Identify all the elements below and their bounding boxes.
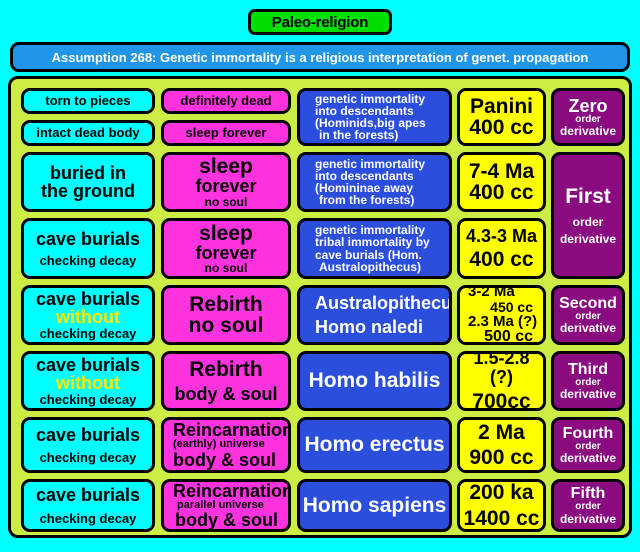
cell-derivative-r5: Third order derivative <box>551 351 625 411</box>
cell-immortality-r1: genetic immortality into descendants (Ho… <box>297 88 452 146</box>
cell-immortality-r7: Homo sapiens <box>297 479 452 532</box>
derivative-order: Second <box>559 296 617 312</box>
cell-date-r4: 3-2 Ma 450 cc 2.3 Ma (?) 500 cc <box>457 285 546 345</box>
cell-line: body & soul <box>175 385 278 403</box>
cell-line: 1400 cc <box>464 508 540 529</box>
cell-line: Homo sapiens <box>303 495 447 516</box>
cell-belief-r3: sleep forever no soul <box>161 218 291 279</box>
cell-immortality-r2: genetic immortality into descendants (Ho… <box>297 152 452 212</box>
page-title-badge: Paleo-religion <box>248 9 392 35</box>
cell-burial-r1b: intact dead body <box>21 120 155 146</box>
cell-date-r1: Panini 400 cc <box>457 88 546 146</box>
matrix-panel: torn to pieces intact dead body definite… <box>8 76 632 538</box>
derivative-line3: derivative <box>560 513 616 525</box>
cell-line: 2 Ma <box>478 422 525 443</box>
cell-line: checking decay <box>40 512 137 525</box>
cell-line: 4.3-3 Ma <box>466 227 537 245</box>
cell-immortality-r6: Homo erectus <box>297 417 452 473</box>
cell-line: Reincarnation <box>171 482 288 500</box>
cell-line: 700cc <box>472 391 530 411</box>
cell-line-highlight: without <box>56 308 120 326</box>
cell-line: Australopithecus <box>307 294 449 312</box>
cell-line: Homo habilis <box>309 370 441 391</box>
cell-line: 400 cc <box>469 249 533 270</box>
cell-line: 500 cc <box>460 329 543 345</box>
cell-line: cave burials <box>36 356 140 374</box>
cell-line: forever <box>195 177 256 195</box>
derivative-line3: derivative <box>560 233 616 245</box>
cell-belief-r5: Rebirth body & soul <box>161 351 291 411</box>
derivative-order: First <box>565 186 611 207</box>
cell-line: the ground <box>41 182 135 200</box>
cell-burial-r5: cave burials without checking decay <box>21 351 155 411</box>
assumption-text: Assumption 268: Genetic immortality is a… <box>52 50 589 65</box>
cell-derivative-r1: Zero order derivative <box>551 88 625 146</box>
cell-line: checking decay <box>40 327 137 340</box>
cell-line: Homo naledi <box>307 318 449 336</box>
page-title: Paleo-religion <box>272 14 368 31</box>
cell-burial-r4: cave burials without checking decay <box>21 285 155 345</box>
cell-date-r7: 200 ka 1400 cc <box>457 479 546 532</box>
cell-line: sleep <box>199 223 253 244</box>
cell-immortality-r4: Australopithecus Homo naledi <box>297 285 452 345</box>
derivative-line3: derivative <box>560 322 616 334</box>
cell-line: cave burials <box>36 290 140 308</box>
cell-burial-r6: cave burials checking decay <box>21 417 155 473</box>
derivative-order: Fifth <box>571 486 606 502</box>
cell-date-r6: 2 Ma 900 cc <box>457 417 546 473</box>
cell-line: genetic immortality <box>307 93 449 105</box>
cell-line: cave burials (Hom. <box>307 249 449 261</box>
cell-text: torn to pieces <box>45 94 130 107</box>
cell-line: in the forests) <box>307 129 449 141</box>
cell-line: checking decay <box>40 451 137 464</box>
cell-burial-r3: cave burials checking decay <box>21 218 155 279</box>
cell-line: 400 cc <box>469 117 533 138</box>
cell-line: forever <box>195 244 256 262</box>
cell-text: sleep forever <box>186 126 267 139</box>
cell-burial-r1a: torn to pieces <box>21 88 155 114</box>
cell-derivative-r6: Fourth order derivative <box>551 417 625 473</box>
cell-belief-r7: Reincarnation parallel universe body & s… <box>161 479 291 532</box>
cell-line: Rebirth <box>189 359 263 380</box>
cell-line: tribal immortality by <box>307 236 449 248</box>
cell-line: 1.5-2.8 (?) <box>460 351 543 386</box>
cell-burial-r2: buried in the ground <box>21 152 155 212</box>
cell-text: definitely dead <box>180 94 271 107</box>
cell-line: (earthly) universe <box>171 439 288 450</box>
cell-derivative-r7: Fifth order derivative <box>551 479 625 532</box>
cell-line: no soul <box>205 262 248 274</box>
cell-line: 3-2 Ma <box>460 285 543 300</box>
derivative-order: Fourth <box>563 426 614 442</box>
cell-date-r3: 4.3-3 Ma 400 cc <box>457 218 546 279</box>
cell-line: sleep <box>199 156 253 177</box>
cell-belief-r6: Reincarnation (earthly) universe body & … <box>161 417 291 473</box>
derivative-line2: order <box>573 216 604 228</box>
cell-line: buried in <box>50 164 126 182</box>
cell-line: no soul <box>189 315 264 336</box>
cell-line: Homo erectus <box>304 434 444 455</box>
cell-immortality-r5: Homo habilis <box>297 351 452 411</box>
cell-line: Australopithecus) <box>307 261 449 273</box>
cell-line: 400 cc <box>469 182 533 203</box>
cell-immortality-r3: genetic immortality tribal immortality b… <box>297 218 452 279</box>
cell-line: Rebirth <box>189 294 263 315</box>
cell-burial-r7: cave burials checking decay <box>21 479 155 532</box>
cell-line: checking decay <box>40 254 137 267</box>
cell-derivative-r2-r3: First order derivative <box>551 152 625 279</box>
cell-line: Panini <box>470 96 533 117</box>
derivative-line3: derivative <box>560 125 616 137</box>
cell-line: no soul <box>205 196 248 208</box>
cell-line: 2.3 Ma (?) <box>460 314 543 329</box>
cell-line: 7-4 Ma <box>469 161 534 182</box>
cell-belief-r2: sleep forever no soul <box>161 152 291 212</box>
cell-line: 900 cc <box>469 447 533 468</box>
derivative-order: Zero <box>568 97 607 115</box>
cell-derivative-r4: Second order derivative <box>551 285 625 345</box>
cell-line: checking decay <box>40 393 137 406</box>
cell-line: cave burials <box>36 426 140 444</box>
assumption-banner: Assumption 268: Genetic immortality is a… <box>10 42 630 72</box>
cell-date-r5: 1.5-2.8 (?) 700cc <box>457 351 546 411</box>
cell-line: Reincarnation <box>171 421 288 439</box>
cell-line: cave burials <box>36 486 140 504</box>
cell-line: body & soul <box>171 511 288 529</box>
cell-belief-r4: Rebirth no soul <box>161 285 291 345</box>
cell-belief-r1b: sleep forever <box>161 120 291 146</box>
derivative-line3: derivative <box>560 388 616 400</box>
cell-line: 200 ka <box>469 482 533 503</box>
derivative-order: Third <box>568 362 608 378</box>
cell-line: body & soul <box>171 451 288 469</box>
cell-belief-r1a: definitely dead <box>161 88 291 114</box>
cell-line: from the forests) <box>307 194 449 206</box>
derivative-line3: derivative <box>560 452 616 464</box>
cell-date-r2: 7-4 Ma 400 cc <box>457 152 546 212</box>
cell-line: cave burials <box>36 230 140 248</box>
cell-text: intact dead body <box>36 126 139 139</box>
cell-line: 450 cc <box>460 300 543 314</box>
cell-line-highlight: without <box>56 374 120 392</box>
cell-line: genetic immortality <box>307 158 449 170</box>
